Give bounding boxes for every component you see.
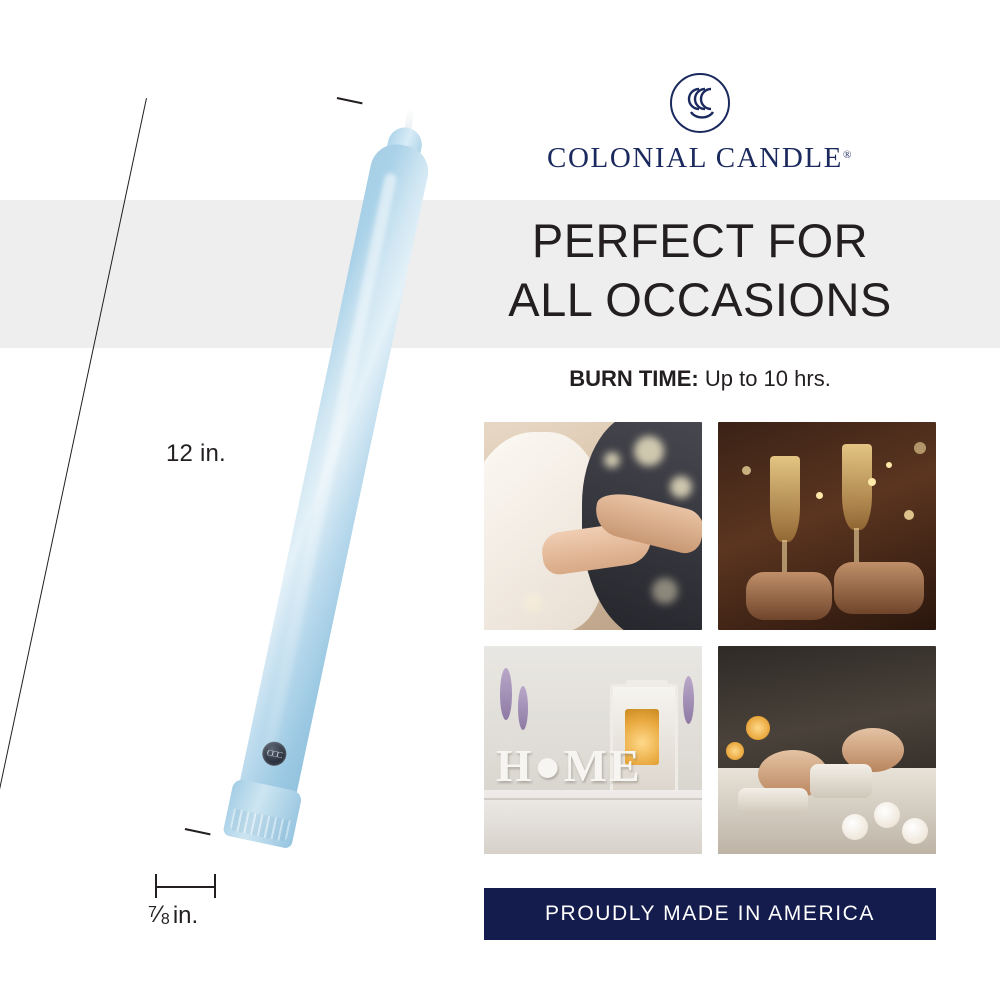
candle-flame — [746, 716, 770, 740]
lavender-sprig — [683, 676, 694, 724]
sparkler-spark — [868, 478, 876, 486]
width-unit: in. — [173, 902, 198, 930]
hand — [834, 562, 924, 614]
sparkler-spark — [816, 492, 823, 499]
info-panel: COLONIAL CANDLE® PERFECT FOR ALL OCCASIO… — [460, 0, 1000, 1000]
candle-body: CCC — [229, 110, 440, 846]
bokeh-light — [634, 436, 664, 466]
width-fraction: 7⁄8 — [148, 901, 170, 929]
home-decor-photo: H●ME — [484, 646, 702, 854]
wedding-rings-photo — [484, 422, 702, 630]
bokeh-light — [524, 594, 542, 612]
hand — [746, 572, 832, 620]
bokeh-light — [604, 452, 620, 468]
bokeh-light — [670, 476, 692, 498]
colonial-candle-seal-icon: CCC — [260, 739, 288, 767]
rolled-towel — [810, 764, 872, 798]
rolled-towel — [738, 788, 808, 814]
lifestyle-photo-grid: H●ME — [484, 422, 936, 854]
brand-logo: COLONIAL CANDLE® — [460, 72, 940, 175]
height-dimension-label: 12 in. — [166, 440, 226, 468]
sparkler-spark — [742, 466, 751, 475]
sparkler-spark — [886, 462, 892, 468]
colonial-candle-monogram-icon — [669, 72, 731, 134]
width-tick-left — [155, 874, 157, 898]
champagne-toast-photo — [718, 422, 936, 630]
lavender-sprig — [500, 668, 512, 720]
candle-flame — [726, 742, 744, 760]
width-numerator: 7 — [148, 904, 157, 921]
burn-time-value: Up to 10 hrs. — [705, 366, 831, 391]
page-title: PERFECT FOR ALL OCCASIONS — [460, 212, 940, 330]
sparkler-spark — [914, 442, 926, 454]
candle-illustration: CCC — [120, 80, 420, 860]
headline-line-2: ALL OCCASIONS — [460, 271, 940, 330]
orchid-flower — [842, 814, 868, 840]
lavender-sprig — [518, 686, 528, 730]
champagne-glass — [770, 456, 800, 542]
spa-couple-photo — [718, 646, 936, 854]
width-denominator: 8 — [161, 911, 170, 928]
banner-text: PROUDLY MADE IN AMERICA — [545, 902, 875, 926]
bokeh-light — [652, 578, 678, 604]
orchid-flower — [874, 802, 900, 828]
brand-name: COLONIAL CANDLE® — [460, 142, 940, 175]
registered-mark: ® — [843, 149, 853, 161]
burn-time-row: BURN TIME: Up to 10 hrs. — [460, 366, 940, 392]
orchid-flower — [902, 818, 928, 844]
candle-shaft — [231, 139, 433, 836]
made-in-america-banner: PROUDLY MADE IN AMERICA — [484, 888, 936, 940]
burn-time-label: BURN TIME: — [569, 366, 699, 391]
wood-shelf — [484, 790, 702, 854]
home-sign-text: H●ME — [496, 739, 642, 792]
headline-line-1: PERFECT FOR — [460, 212, 940, 271]
candle-highlight — [261, 172, 397, 761]
width-tick-right — [214, 874, 216, 898]
product-image-panel: CCC 12 in. 7⁄8 in. — [0, 0, 460, 1000]
sparkler-spark — [904, 510, 914, 520]
champagne-glass — [842, 444, 872, 530]
width-dimension-label: 7⁄8 in. — [148, 902, 198, 930]
width-dimension-line — [155, 886, 215, 888]
